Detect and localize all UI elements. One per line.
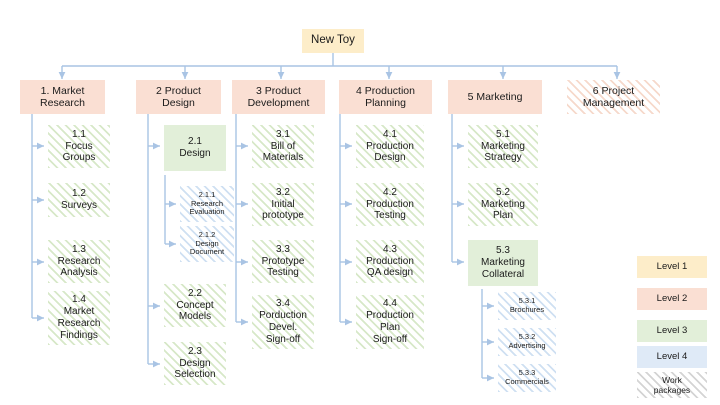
node-3-1-bill-of-materials[interactable]: 3.1 Bill of Materials bbox=[252, 125, 314, 168]
node-5-3-marketing-collateral[interactable]: 5.3 Marketing Collateral bbox=[468, 240, 538, 286]
node-3-2-initial-prototype[interactable]: 3.2 Initial prototype bbox=[252, 183, 314, 226]
node-5-3-1-brochures[interactable]: 5.3.1 Brochures bbox=[498, 292, 556, 320]
node-5-3-3-commercials[interactable]: 5.3.3 Commercials bbox=[498, 364, 556, 392]
node-production-planning[interactable]: 4 Production Planning bbox=[339, 80, 432, 114]
legend-swatch-level-4: Level 4 bbox=[637, 346, 707, 368]
node-1-4-market-research-findings[interactable]: 1.4 Market Research Findings bbox=[48, 291, 110, 345]
node-3-3-prototype-testing[interactable]: 3.3 Prototype Testing bbox=[252, 240, 314, 283]
node-4-4-production-plan-signoff[interactable]: 4.4 Production Plan Sign-off bbox=[356, 295, 424, 349]
node-5-3-2-advertising[interactable]: 5.3.2 Advertising bbox=[498, 328, 556, 356]
node-4-1-production-design[interactable]: 4.1 Production Design bbox=[356, 125, 424, 168]
node-2-1-2-design-document[interactable]: 2.1.2 Design Document bbox=[180, 226, 234, 262]
legend-swatch-level-1: Level 1 bbox=[637, 256, 707, 278]
node-product-design[interactable]: 2 Product Design bbox=[136, 80, 221, 114]
node-new-toy[interactable]: New Toy bbox=[302, 29, 364, 53]
legend-swatch-level-3: Level 3 bbox=[637, 320, 707, 342]
legend-swatch-level-2: Level 2 bbox=[637, 288, 707, 310]
legend-swatch-work-packages: Work packages bbox=[637, 372, 707, 398]
node-marketing[interactable]: 5 Marketing bbox=[448, 80, 542, 114]
node-1-2-surveys[interactable]: 1.2 Surveys bbox=[48, 183, 110, 217]
node-market-research[interactable]: 1. Market Research bbox=[20, 80, 105, 114]
node-2-3-design-selection[interactable]: 2.3 Design Selection bbox=[164, 342, 226, 385]
node-project-management[interactable]: 6 Project Management bbox=[567, 80, 660, 114]
node-2-1-design[interactable]: 2.1 Design bbox=[164, 125, 226, 171]
node-1-1-focus-groups[interactable]: 1.1 Focus Groups bbox=[48, 125, 110, 168]
node-2-2-concept-models[interactable]: 2.2 Concept Models bbox=[164, 284, 226, 327]
node-4-2-production-testing[interactable]: 4.2 Production Testing bbox=[356, 183, 424, 226]
node-5-2-marketing-plan[interactable]: 5.2 Marketing Plan bbox=[468, 183, 538, 226]
node-product-development[interactable]: 3 Product Development bbox=[232, 80, 325, 114]
node-1-3-research-analysis[interactable]: 1.3 Research Analysis bbox=[48, 240, 110, 283]
node-3-4-production-development-signoff[interactable]: 3.4 Porduction Devel. Sign-off bbox=[252, 295, 314, 349]
node-4-3-production-qa-design[interactable]: 4.3 Production QA design bbox=[356, 240, 424, 283]
node-2-1-1-research-evaluation[interactable]: 2.1.1 Research Evaluation bbox=[180, 186, 234, 222]
node-5-1-marketing-strategy[interactable]: 5.1 Marketing Strategy bbox=[468, 125, 538, 168]
